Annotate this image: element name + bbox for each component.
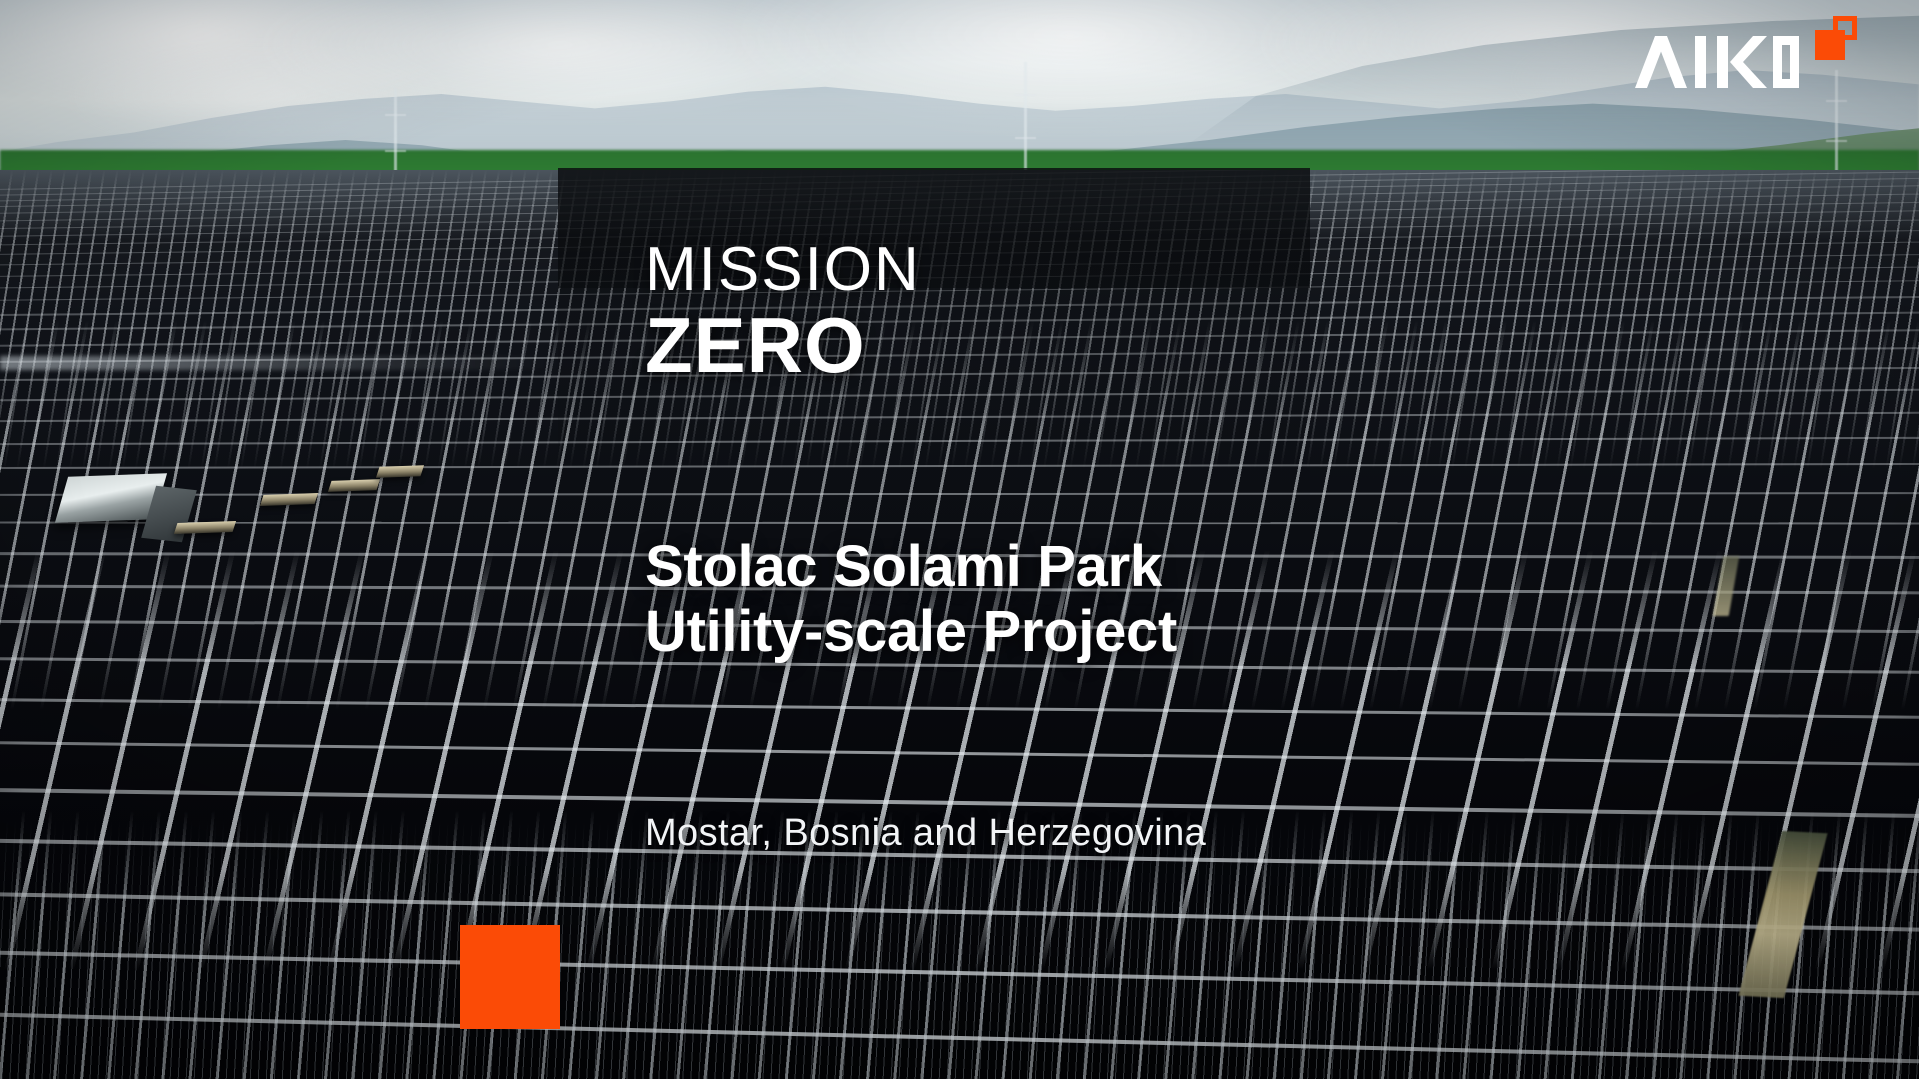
- project-location: Mostar, Bosnia and Herzegovina: [645, 812, 1206, 855]
- equipment-unit: [328, 479, 380, 492]
- mission-zero-eyebrow: MISSION ZERO: [645, 240, 921, 385]
- equipment-unit: [260, 493, 318, 506]
- presentation-slide: MISSION ZERO Stolac Solami Park Utility-…: [0, 0, 1919, 1079]
- aiko-square-mark-icon: [1815, 16, 1857, 60]
- orange-accent-square: [460, 925, 560, 1029]
- eyebrow-line-mission: MISSION: [645, 240, 921, 300]
- slide-content: MISSION ZERO Stolac Solami Park Utility-…: [645, 0, 1645, 1079]
- page-title: Stolac Solami Park Utility-scale Project: [645, 535, 1177, 665]
- equipment-unit: [376, 465, 424, 478]
- eyebrow-line-zero: ZERO: [645, 306, 921, 386]
- title-line-1: Stolac Solami Park: [645, 535, 1177, 600]
- aiko-wordmark-icon: [1633, 34, 1801, 95]
- title-line-2: Utility-scale Project: [645, 600, 1177, 665]
- aiko-logo[interactable]: [1633, 34, 1857, 95]
- equipment-unit: [174, 521, 236, 534]
